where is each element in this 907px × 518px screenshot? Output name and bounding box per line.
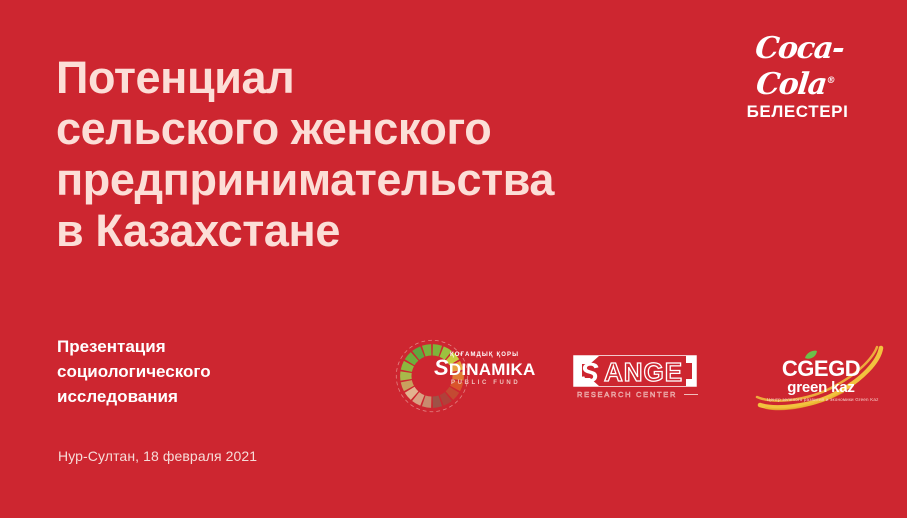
svg-text:S: S xyxy=(580,357,599,388)
sange-wordmark-icon: S ANGE RESEARCH CENTER xyxy=(570,351,700,403)
dinamika-english-line: PUBLIC FUND xyxy=(451,379,542,388)
coca-cola-belesteri-logo: Coca-Cola® БЕЛЕСТЕРІ xyxy=(730,33,865,121)
event-date: Нур-Султан, 18 февраля 2021 xyxy=(58,448,257,464)
sange-logo: S ANGE RESEARCH CENTER xyxy=(570,351,700,403)
leaf-icon xyxy=(804,350,818,360)
page-title: Потенциал сельского женского предпринима… xyxy=(56,52,716,256)
subtitle-line-3: исследования xyxy=(57,384,377,409)
dinamika-name: SDINAMIKA xyxy=(434,359,542,379)
dinamika-wordmark: ҚОҒАМДЫҚ ҚОРЫ SDINAMIKA PUBLIC FUND xyxy=(434,351,542,388)
coca-cola-script-wordmark: Coca-Cola® xyxy=(726,33,868,101)
title-line-2: сельского женского xyxy=(56,103,716,154)
dinamika-kazakh-line: ҚОҒАМДЫҚ ҚОРЫ xyxy=(450,351,542,359)
dinamika-initial: S xyxy=(434,355,449,380)
cgegd-green-kaz-logo: CGEGD green kaz Центр зеленого развития … xyxy=(755,344,885,412)
belesteri-wordmark: БЕЛЕСТЕРІ xyxy=(730,102,865,121)
cgegd-wordmark: CGEGD green kaz Центр зеленого развития … xyxy=(767,358,875,403)
title-line-3: предпринимательства xyxy=(56,154,716,205)
title-line-4: в Казахстане xyxy=(56,205,716,256)
coca-cola-script-text: Coca-Cola xyxy=(754,31,846,102)
cgegd-main-text: CGEGD xyxy=(782,356,860,381)
dinamika-main-text: DINAMIKA xyxy=(449,360,536,379)
subtitle-line-1: Презентация xyxy=(57,334,377,359)
registered-trademark-icon: ® xyxy=(826,76,836,86)
title-slide: Потенциал сельского женского предпринима… xyxy=(0,0,907,518)
cgegd-sub-text: green kaz xyxy=(767,380,875,396)
cgegd-fine-print: Центр зеленого развития и экономики Gree… xyxy=(767,397,875,403)
subtitle-line-2: социологического xyxy=(57,359,377,384)
dinamika-logo: ҚОҒАМДЫҚ ҚОРЫ SDINAMIKA PUBLIC FUND xyxy=(390,334,540,419)
partner-logos: ҚОҒАМДЫҚ ҚОРЫ SDINAMIKA PUBLIC FUND S AN… xyxy=(390,334,885,424)
cgegd-name: CGEGD xyxy=(767,358,875,380)
title-line-1: Потенциал xyxy=(56,52,716,103)
page-subtitle: Презентация социологического исследовани… xyxy=(57,334,377,409)
svg-text:ANGE: ANGE xyxy=(604,357,683,387)
svg-text:RESEARCH CENTER: RESEARCH CENTER xyxy=(577,390,677,399)
